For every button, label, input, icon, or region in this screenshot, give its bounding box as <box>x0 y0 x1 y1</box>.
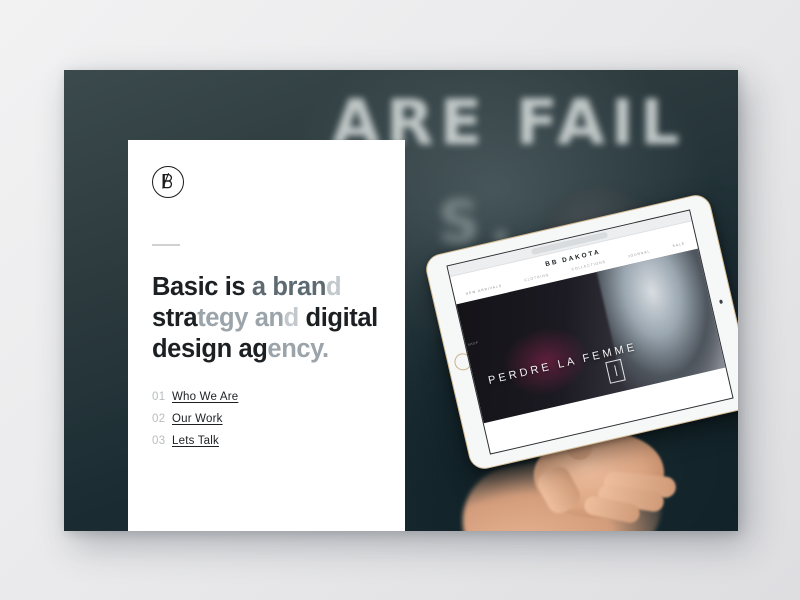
headline-segment: Basic is <box>152 273 252 301</box>
nav-item-number: 03 <box>152 435 172 447</box>
headline-segment: d <box>284 304 306 332</box>
page-title: Basic is a brand strategy and digital de… <box>152 272 381 365</box>
nav-item-number: 02 <box>152 413 172 425</box>
nav-item-label[interactable]: Our Work <box>172 413 223 425</box>
content-panel-inner: Basic is a brand strategy and digital de… <box>128 140 405 531</box>
nav-item-our-work[interactable]: 02 Our Work <box>152 413 381 425</box>
divider-rule <box>152 244 180 246</box>
nav-item-who-we-are[interactable]: 01 Who We Are <box>152 391 381 403</box>
headline-segment: a bran <box>252 273 326 301</box>
tablet-screen: BB DAKOTA NEW ARRIVALS CLOTHING COLLECTI… <box>446 209 733 454</box>
headline-segment: design ag <box>152 335 267 363</box>
headline-segment: digital <box>306 304 378 332</box>
tablet-camera-icon <box>719 299 723 303</box>
headline-segment: stra <box>152 304 197 332</box>
tablet-side-label: SHOP <box>467 340 479 346</box>
headline-segment: tegy an <box>197 304 283 332</box>
website-mockup-card: ARE FAIL OR S. BB DAKOTA N <box>64 70 738 531</box>
nav-item-label[interactable]: Lets Talk <box>172 435 219 447</box>
nav-item-lets-talk[interactable]: 03 Lets Talk <box>152 435 381 447</box>
page-root: ARE FAIL OR S. BB DAKOTA N <box>0 0 800 600</box>
content-panel: Basic is a brand strategy and digital de… <box>128 140 405 531</box>
circled-b-monogram-icon[interactable] <box>152 166 184 198</box>
headline-segment: d <box>326 273 341 301</box>
nav-item-number: 01 <box>152 391 172 403</box>
main-nav-list: 01 Who We Are 02 Our Work 03 Lets Talk <box>152 391 381 447</box>
nav-item-label[interactable]: Who We Are <box>172 391 238 403</box>
headline-segment: ency. <box>267 335 328 363</box>
